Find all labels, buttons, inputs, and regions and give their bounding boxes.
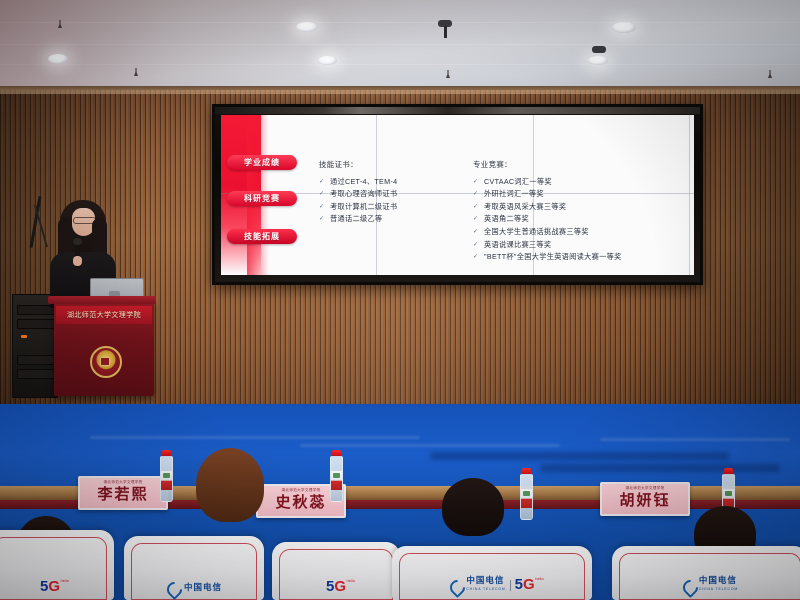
- slide-list-item: 全国大学生普通话挑战赛三等奖: [473, 226, 688, 239]
- ceiling-downlight: [588, 56, 608, 65]
- slide-list-item: 考取计算机二级证书: [319, 201, 469, 214]
- chair-logo: 中国电信 CHINA TELECOM 5 G hello: [392, 576, 592, 594]
- speaker-hand: [73, 256, 82, 266]
- brand-label-en: CHINA TELECOM: [466, 585, 505, 594]
- slide-list-competitions: CVTAAC词汇一等奖 外研社词汇一等奖 考取英语风采大赛三等奖 英语角二等奖 …: [473, 176, 688, 264]
- fiveg-logo-icon: 5 G hello: [40, 580, 60, 594]
- fiveg-letter: G: [334, 580, 346, 594]
- podium-top: [48, 296, 156, 304]
- chair-cover: 5 G hello: [272, 542, 400, 600]
- microphone-head: [73, 238, 82, 245]
- fiveg-digit: 5: [515, 578, 523, 592]
- ceiling: [0, 0, 800, 92]
- slide-heading-certificates: 技能证书：: [319, 159, 469, 172]
- slide-list-item: 考取英语风采大赛三等奖: [473, 201, 688, 214]
- podium-banner-text: 湖北师范大学文理学院: [67, 310, 141, 320]
- photo-scene: 学业成绩 科研竞赛 技能拓展 技能证书： 通过CET-4、TEM-4 考取心理咨…: [0, 0, 800, 600]
- water-bottle: [160, 450, 173, 502]
- slide-list-item: "BETT杯"全国大学生英语阅读大赛一等奖: [473, 251, 688, 264]
- chair-cover: 中国电信 CHINA TELECOM: [612, 546, 800, 600]
- chair-logo: 5 G hello: [272, 580, 400, 594]
- brand-label: 中国电信 CHINA TELECOM: [699, 576, 738, 594]
- slide-pill-skills: 技能拓展: [227, 229, 297, 244]
- name-card-name: 史秋蕊: [275, 493, 326, 513]
- fiveg-hello: hello: [61, 578, 69, 583]
- ceiling-downlight: [318, 56, 337, 65]
- slide-column-competitions: 专业竞赛： CVTAAC词汇一等奖 外研社词汇一等奖 考取英语风采大赛三等奖 英…: [473, 159, 688, 264]
- china-telecom-icon: [166, 581, 179, 594]
- slide-list-item: 通过CET-4、TEM-4: [319, 176, 469, 189]
- slide-pill-label: 科研竞赛: [244, 193, 280, 204]
- ceiling-downlight: [612, 22, 636, 33]
- brand-label: 中国电信: [184, 583, 222, 592]
- podium-area: 湖北师范大学文理学院: [32, 196, 140, 401]
- fiveg-letter: G: [48, 580, 60, 594]
- name-card-name: 胡妍钰: [619, 491, 670, 511]
- ceiling-pendant: [592, 46, 606, 53]
- water-bottle: [520, 468, 533, 520]
- china-telecom-icon: [449, 579, 462, 592]
- slide-list-item: 普通话二级乙等: [319, 213, 469, 226]
- equipment-rack: [12, 294, 58, 398]
- slide-list-item: 英语角二等奖: [473, 213, 688, 226]
- ceiling-downlight: [296, 22, 318, 32]
- audience-head: [442, 478, 504, 536]
- china-telecom-icon: [682, 579, 695, 592]
- fiveg-letter: G: [523, 578, 535, 592]
- fiveg-digit: 5: [40, 580, 48, 594]
- fiveg-hello: hello: [535, 576, 543, 581]
- slide-list-item: 外研社词汇一等奖: [473, 188, 688, 201]
- slide-list-item: 考取心理咨询师证书: [319, 188, 469, 201]
- slide-pill-label: 学业成绩: [244, 157, 280, 168]
- screen-bezel: [215, 107, 700, 114]
- slide-column-certificates: 技能证书： 通过CET-4、TEM-4 考取心理咨询师证书 考取计算机二级证书 …: [319, 159, 469, 226]
- presentation-screen: 学业成绩 科研竞赛 技能拓展 技能证书： 通过CET-4、TEM-4 考取心理咨…: [221, 115, 694, 275]
- brand-label-cn: 中国电信: [466, 575, 504, 585]
- slide-list-item: CVTAAC词汇一等奖: [473, 176, 688, 189]
- name-card-name: 李若熙: [97, 485, 148, 505]
- chair-logo: 中国电信: [124, 581, 264, 594]
- brand-label-cn: 中国电信: [699, 575, 737, 585]
- audience-head: [196, 448, 264, 522]
- name-card: 湖北师范大学文理学院 胡妍钰: [600, 482, 690, 516]
- chair-cover: 5 G hello: [0, 530, 114, 600]
- chair-logo: 中国电信 CHINA TELECOM: [612, 576, 800, 594]
- brand-label-en: CHINA TELECOM: [699, 585, 738, 594]
- podium-banner: 湖北师范大学文理学院: [56, 306, 152, 324]
- logo-divider: [510, 580, 511, 591]
- led-screen-frame: 学业成绩 科研竞赛 技能拓展 技能证书： 通过CET-4、TEM-4 考取心理咨…: [212, 104, 703, 285]
- slide-pill-academic: 学业成绩: [227, 155, 297, 170]
- slide-list-item: 英语说课比赛三等奖: [473, 239, 688, 252]
- slide-list-certificates: 通过CET-4、TEM-4 考取心理咨询师证书 考取计算机二级证书 普通话二级乙…: [319, 176, 469, 226]
- chair-cover: 中国电信 CHINA TELECOM 5 G hello: [392, 546, 592, 600]
- university-crest-icon: [90, 346, 122, 378]
- fiveg-logo-icon: 5 G hello: [515, 578, 535, 592]
- fiveg-digit: 5: [326, 580, 334, 594]
- brand-label: 中国电信 CHINA TELECOM: [466, 576, 505, 594]
- ceiling-pendant-rod: [444, 26, 447, 38]
- slide-pill-label: 技能拓展: [244, 231, 280, 242]
- slide-heading-competitions: 专业竞赛：: [473, 159, 688, 172]
- name-card: 湖北师范大学文理学院 李若熙: [78, 476, 168, 510]
- water-bottle: [330, 450, 343, 502]
- fiveg-logo-icon: 5 G hello: [326, 580, 346, 594]
- chair-logo: 5 G hello: [0, 580, 114, 594]
- slide-pill-research: 科研竞赛: [227, 191, 297, 206]
- chair-cover: 中国电信: [124, 536, 264, 600]
- fiveg-hello: hello: [347, 578, 355, 583]
- ceiling-downlight: [48, 54, 68, 64]
